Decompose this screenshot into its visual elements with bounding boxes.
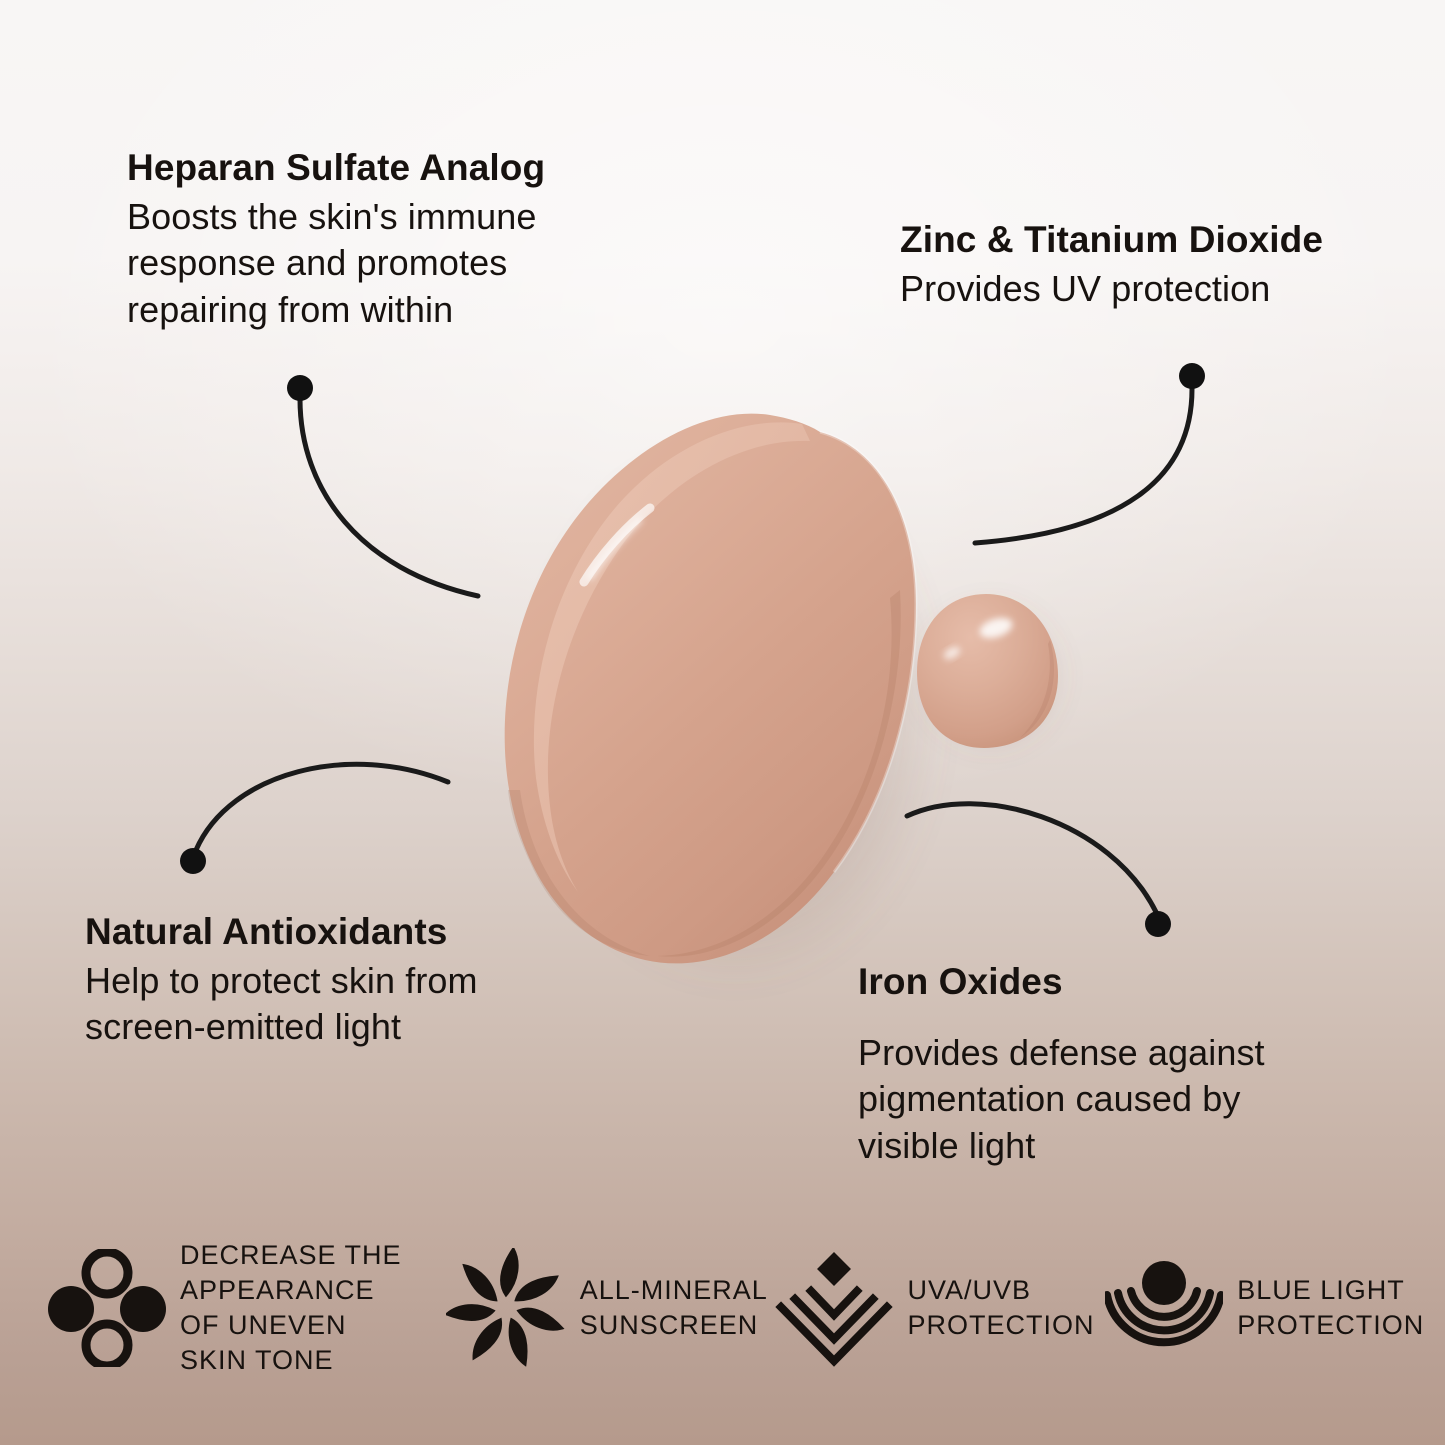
benefit-uva-uvb-protection: UVA/UVB PROTECTION — [775, 1249, 1105, 1367]
chevron-rays-icon — [775, 1249, 893, 1367]
radiating-waves-icon — [1105, 1249, 1223, 1367]
callout-body-line: response and promotes — [127, 240, 545, 287]
benefit-label-line: APPEARANCE — [180, 1273, 402, 1308]
benefit-label: DECREASE THE APPEARANCE OF UNEVEN SKIN T… — [180, 1238, 402, 1378]
callout-body: Help to protect skin from screen-emitted… — [85, 958, 478, 1052]
connector-dot-antioxidants — [180, 848, 206, 874]
callout-title: Iron Oxides — [858, 960, 1265, 1004]
callout-title: Natural Antioxidants — [85, 910, 478, 954]
callout-body-line: Boosts the skin's immune — [127, 194, 545, 241]
connector-antioxidants — [196, 764, 448, 850]
benefit-label: UVA/UVB PROTECTION — [907, 1273, 1094, 1343]
callout-body-line: pigmentation caused by — [858, 1076, 1265, 1123]
benefit-label: BLUE LIGHT PROTECTION — [1237, 1273, 1424, 1343]
callout-zinc-titanium-dioxide: Zinc & Titanium Dioxide Provides UV prot… — [900, 218, 1323, 312]
callout-iron-oxides: Iron Oxides Provides defense against pig… — [858, 960, 1265, 1170]
connector-dot-zinc — [1179, 363, 1205, 389]
callout-heparan-sulfate-analog: Heparan Sulfate Analog Boosts the skin's… — [127, 146, 545, 334]
flower-petals-icon — [446, 1248, 566, 1368]
benefit-all-mineral-sunscreen: ALL-MINERAL SUNSCREEN — [442, 1248, 776, 1368]
benefit-label-line: BLUE LIGHT — [1237, 1273, 1424, 1308]
connector-dot-heparan — [287, 375, 313, 401]
callout-body: Provides UV protection — [900, 266, 1323, 313]
benefits-row: DECREASE THE APPEARANCE OF UNEVEN SKIN T… — [0, 1218, 1445, 1398]
benefit-label-line: DECREASE THE — [180, 1238, 402, 1273]
benefit-label-line: OF UNEVEN — [180, 1308, 402, 1343]
callout-body-line: visible light — [858, 1123, 1265, 1170]
callout-body-line: repairing from within — [127, 287, 545, 334]
connector-zinc — [975, 389, 1192, 543]
callout-title: Zinc & Titanium Dioxide — [900, 218, 1323, 262]
infographic-canvas: Heparan Sulfate Analog Boosts the skin's… — [0, 0, 1445, 1445]
callout-body: Boosts the skin's immune response and pr… — [127, 194, 545, 334]
callout-body-line: Provides defense against — [858, 1030, 1265, 1077]
benefit-label-line: PROTECTION — [907, 1308, 1094, 1343]
benefit-label-line: ALL-MINERAL — [580, 1273, 768, 1308]
connector-iron — [907, 804, 1156, 912]
callout-title: Heparan Sulfate Analog — [127, 146, 545, 190]
benefit-label: ALL-MINERAL SUNSCREEN — [580, 1273, 768, 1343]
cream-droplet — [917, 594, 1058, 748]
benefit-label-line: SUNSCREEN — [580, 1308, 768, 1343]
benefit-blue-light-protection: BLUE LIGHT PROTECTION — [1105, 1249, 1445, 1367]
benefit-uneven-skin-tone: DECREASE THE APPEARANCE OF UNEVEN SKIN T… — [0, 1238, 442, 1378]
benefit-label-line: PROTECTION — [1237, 1308, 1424, 1343]
benefit-label-line: SKIN TONE — [180, 1343, 402, 1378]
callout-body-line: Help to protect skin from — [85, 958, 478, 1005]
four-dots-icon — [48, 1249, 166, 1367]
callout-body-line: screen-emitted light — [85, 1004, 478, 1051]
connector-heparan — [300, 399, 478, 596]
callout-body-line: Provides UV protection — [900, 266, 1323, 313]
benefit-label-line: UVA/UVB — [907, 1273, 1094, 1308]
callout-natural-antioxidants: Natural Antioxidants Help to protect ski… — [85, 910, 478, 1051]
callout-body: Provides defense against pigmentation ca… — [858, 1030, 1265, 1170]
connector-dot-iron — [1145, 911, 1171, 937]
